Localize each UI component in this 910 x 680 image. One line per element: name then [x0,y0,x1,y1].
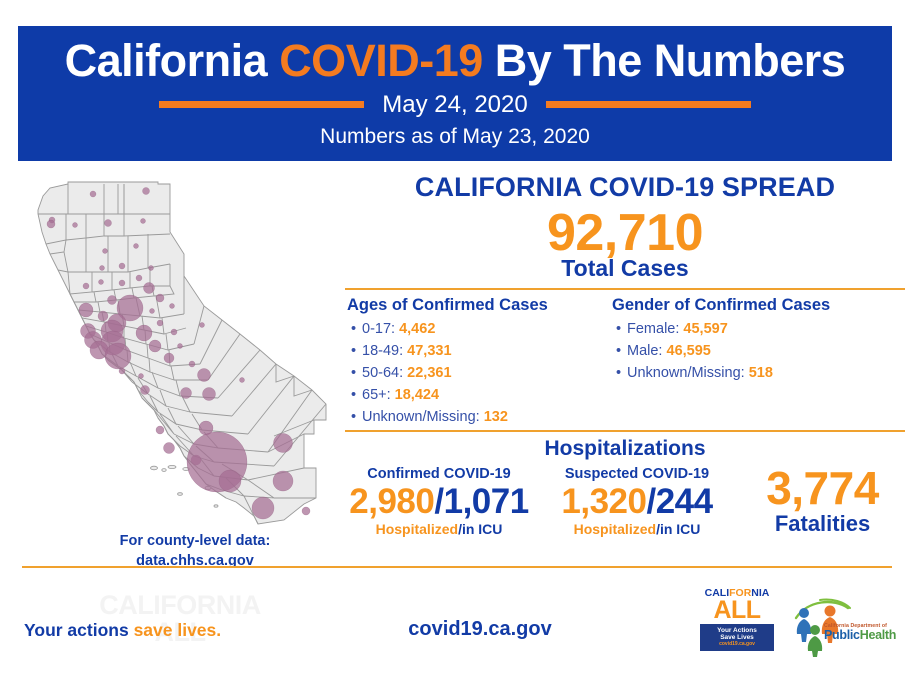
suspected-icu-value: 244 [656,482,713,521]
confirmed-icu-value: 1,071 [444,482,529,521]
age-value: 4,462 [399,321,435,337]
header-banner: California COVID-19 By The Numbers May 2… [18,26,892,161]
confirmed-numbers: 2,980/1,071 [340,482,538,521]
map-caption-line-2[interactable]: data.chhs.ca.gov [60,552,330,572]
fatalities-number: 3,774 [740,464,905,512]
fatalities-label: Fatalities [740,511,905,537]
california-bubble-map [8,168,338,528]
divider-footer [22,566,892,568]
ca-all-badge: Your Actions Save Lives covid19.ca.gov [700,624,774,651]
divider-hospitalizations [345,430,905,432]
ca-all-badge-url: covid19.ca.gov [702,642,772,648]
list-item: 50-64: 22,361 [347,362,597,384]
suspected-foot-hospitalized: Hospitalized [574,521,656,537]
rule-left [159,101,364,108]
tagline: Your actions save lives. [24,620,221,641]
confirmed-separator: / [434,482,443,521]
list-item: 18-49: 47,331 [347,340,597,362]
suspected-separator: / [646,482,655,521]
tagline-blue-text: Your actions [24,620,134,640]
confirmed-hospitalized-value: 2,980 [349,482,434,521]
gender-value: 46,595 [667,343,711,359]
banner-date: May 24, 2020 [382,91,527,119]
rule-right [546,101,751,108]
age-value: 132 [484,409,508,425]
confirmed-foot-icu: in ICU [462,521,502,537]
title-part-1: California [65,35,280,86]
age-value: 18,424 [395,387,439,403]
ages-heading: Ages of Confirmed Cases [347,296,597,315]
hospitalizations-heading: Hospitalizations [345,437,905,461]
hospitalizations-confirmed: Confirmed COVID-19 2,980/1,071 Hospitali… [340,466,538,537]
gender-value: 518 [749,365,773,381]
age-label: Unknown/Missing: [362,409,480,425]
cdph-health: Health [860,628,896,642]
tagline-orange-text: save lives. [134,620,222,640]
gender-list: Female: 45,597 Male: 46,595 Unknown/Miss… [612,318,902,384]
total-cases-label: Total Cases [345,255,905,282]
gender-value: 45,597 [683,321,727,337]
age-label: 18-49: [362,343,403,359]
banner-dateline: May 24, 2020 [18,89,892,121]
map-caption-line-1: For county-level data: [60,532,330,552]
confirmed-subhead: Confirmed COVID-19 [340,466,538,482]
fatalities-block: 3,774 Fatalities [740,464,905,537]
cdph-public: Public [824,628,860,642]
cdph-logo: California Department of PublicHealth [790,596,898,658]
list-item: Female: 45,597 [612,318,902,340]
california-all-logo: CALIFORNIA ALL Your Actions Save Lives c… [700,588,774,651]
list-item: Male: 46,595 [612,340,902,362]
footer-url[interactable]: covid19.ca.gov [340,618,620,641]
divider-top [345,288,905,290]
list-item: 0-17: 4,462 [347,318,597,340]
gender-heading: Gender of Confirmed Cases [612,296,902,315]
gender-label: Female: [627,321,679,337]
list-item: Unknown/Missing: 518 [612,362,902,384]
age-label: 50-64: [362,365,403,381]
age-label: 0-17: [362,321,395,337]
age-label: 65+: [362,387,391,403]
ca-all-wordmark-all: ALL [700,599,774,622]
list-item: 65+: 18,424 [347,384,597,406]
suspected-hospitalized-value: 1,320 [561,482,646,521]
confirmed-footnote: Hospitalized/in ICU [340,521,538,537]
suspected-footnote: Hospitalized/in ICU [538,521,736,537]
suspected-foot-icu: in ICU [660,521,700,537]
ca-all-badge-line-2: Save Lives [702,634,772,641]
hospitalizations-suspected: Suspected COVID-19 1,320/244 Hospitalize… [538,466,736,537]
confirmed-foot-hospitalized: Hospitalized [376,521,458,537]
spread-heading: CALIFORNIA COVID-19 SPREAD [345,172,905,203]
ca-all-badge-line-1: Your Actions [702,627,772,634]
infographic-page: California COVID-19 By The Numbers May 2… [0,0,910,680]
gender-label: Male: [627,343,662,359]
title-highlight: COVID-19 [279,35,483,86]
list-item: Unknown/Missing: 132 [347,406,597,428]
ages-list: 0-17: 4,462 18-49: 47,331 50-64: 22,361 … [347,318,597,428]
age-value: 47,331 [407,343,451,359]
gender-label: Unknown/Missing: [627,365,745,381]
gender-section: Gender of Confirmed Cases Female: 45,597… [612,296,902,384]
suspected-numbers: 1,320/244 [538,482,736,521]
banner-subtitle: Numbers as of May 23, 2020 [18,125,892,149]
age-value: 22,361 [407,365,451,381]
ages-section: Ages of Confirmed Cases 0-17: 4,462 18-4… [347,296,597,428]
total-cases-number: 92,710 [345,203,905,263]
page-title: California COVID-19 By The Numbers [18,26,892,87]
title-part-2: By The Numbers [483,35,846,86]
cdph-name-line: PublicHealth [824,629,898,642]
suspected-subhead: Suspected COVID-19 [538,466,736,482]
cdph-wordmark: California Department of PublicHealth [824,624,898,642]
watermark-line-1: CALIFORNIA [30,592,330,619]
